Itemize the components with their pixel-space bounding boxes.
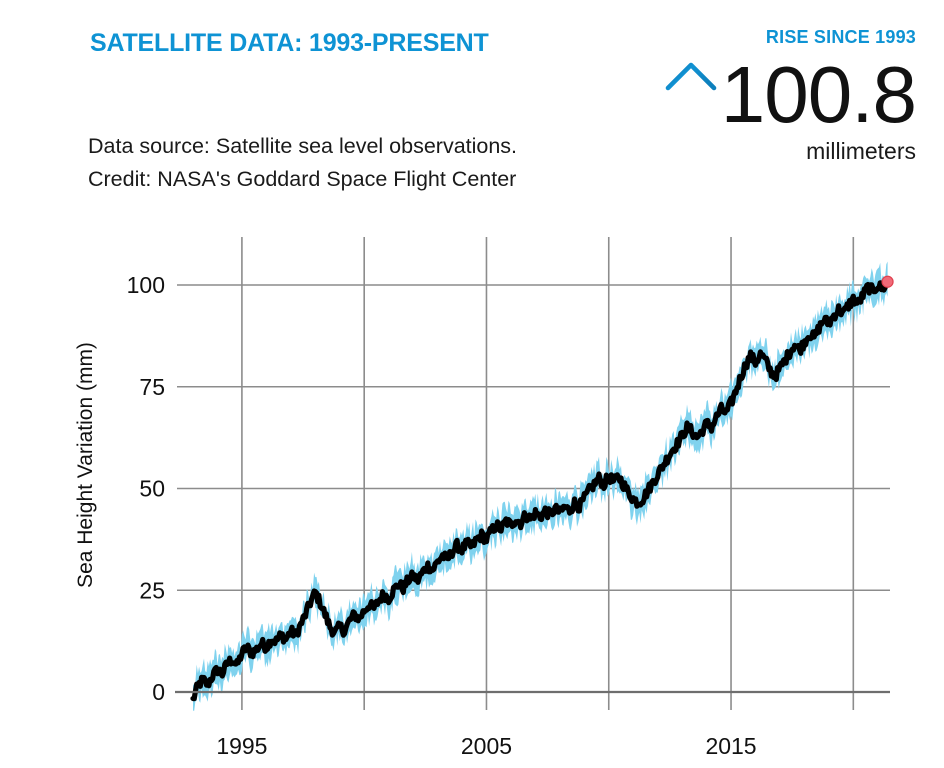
header: Satellite data: 1993-present Data source… [0,0,944,215]
sea-level-line [193,282,888,699]
y-tick-label: 0 [152,679,165,705]
y-tick-label: 75 [139,374,165,400]
arrow-up-icon [663,58,719,132]
data-source-line: Data source: Satellite sea level observa… [88,130,648,163]
sea-level-chart: Sea Height Variation (mm) 0255075100 199… [0,215,944,768]
latest-value-marker [882,276,893,287]
y-axis-ticks: 0255075100 [127,272,165,705]
sea-level-infographic: Satellite data: 1993-present Data source… [0,0,944,768]
rise-stat-block: Rise since 1993 100.8 millimeters [616,28,916,163]
y-axis-title: Sea Height Variation (mm) [74,342,97,588]
x-tick-label: 2005 [461,733,512,759]
page-title: Satellite data: 1993-present [90,28,490,59]
rise-stat-value: 100.8 [721,57,916,133]
rise-stat-label: Rise since 1993 [616,28,916,46]
x-axis-ticks: 199520052015 [216,733,756,759]
uncertainty-band [193,262,888,711]
y-tick-label: 100 [127,272,165,298]
x-tick-label: 1995 [216,733,267,759]
y-tick-label: 25 [139,577,165,603]
source-credit-block: Data source: Satellite sea level observa… [88,130,648,195]
credit-line: Credit: NASA's Goddard Space Flight Cent… [88,163,648,196]
y-tick-label: 50 [139,476,165,502]
x-tick-label: 2015 [705,733,756,759]
chart-svg: Sea Height Variation (mm) 0255075100 199… [0,215,944,768]
rise-stat-unit: millimeters [616,140,916,163]
rise-stat-row: 100.8 [616,56,916,134]
